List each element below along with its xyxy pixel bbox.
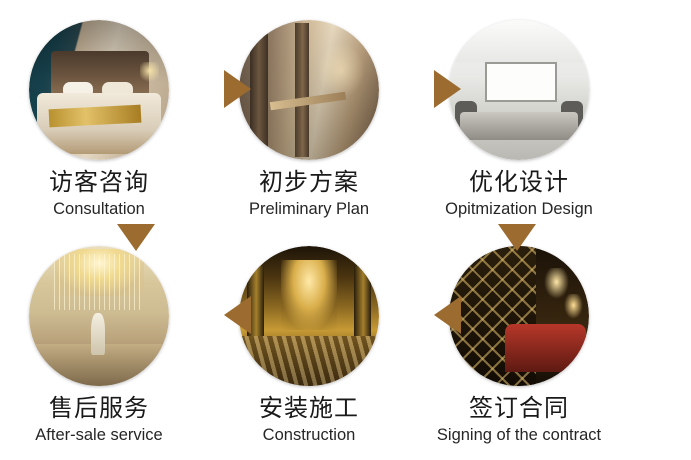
step-signing-contract[interactable]: 签订合同 Signing of the contract [419, 246, 619, 447]
step-after-sale-service-label-en: After-sale service [0, 425, 199, 446]
step-construction-label-en: Construction [209, 425, 409, 446]
step-preliminary-plan-label-cn: 初步方案 [209, 169, 409, 197]
process-flow-diagram: 访客咨询 Consultation 初步方案 Preliminary Plan [0, 0, 691, 460]
step-optimization-design-label-en: Opitmization Design [419, 199, 619, 220]
arrow-consultation-to-preliminary-plan [224, 70, 251, 108]
step-preliminary-plan-image [239, 20, 379, 160]
step-after-sale-service[interactable]: 售后服务 After-sale service [0, 246, 199, 447]
step-preliminary-plan[interactable]: 初步方案 Preliminary Plan [209, 20, 409, 221]
step-construction[interactable]: 安装施工 Construction [209, 246, 409, 447]
arrow-signing-to-construction [434, 296, 461, 334]
step-after-sale-service-image [29, 246, 169, 386]
step-consultation-image [29, 20, 169, 160]
arrow-optimization-design-to-signing [498, 224, 536, 251]
step-construction-image [239, 246, 379, 386]
step-consultation[interactable]: 访客咨询 Consultation [0, 20, 199, 221]
arrow-construction-to-after-sale [224, 296, 251, 334]
step-preliminary-plan-label-en: Preliminary Plan [209, 199, 409, 220]
step-optimization-design[interactable]: 优化设计 Opitmization Design [419, 20, 619, 221]
step-signing-contract-label-en: Signing of the contract [419, 425, 619, 446]
step-optimization-design-image [449, 20, 589, 160]
step-after-sale-service-label-cn: 售后服务 [0, 395, 199, 423]
arrow-preliminary-plan-to-optimization-design [434, 70, 461, 108]
step-signing-contract-image [449, 246, 589, 386]
step-signing-contract-label-cn: 签订合同 [419, 395, 619, 423]
step-construction-label-cn: 安装施工 [209, 395, 409, 423]
step-consultation-label-cn: 访客咨询 [0, 169, 199, 197]
step-consultation-label-en: Consultation [0, 199, 199, 220]
arrow-after-sale-loop [117, 224, 155, 251]
step-optimization-design-label-cn: 优化设计 [419, 169, 619, 197]
